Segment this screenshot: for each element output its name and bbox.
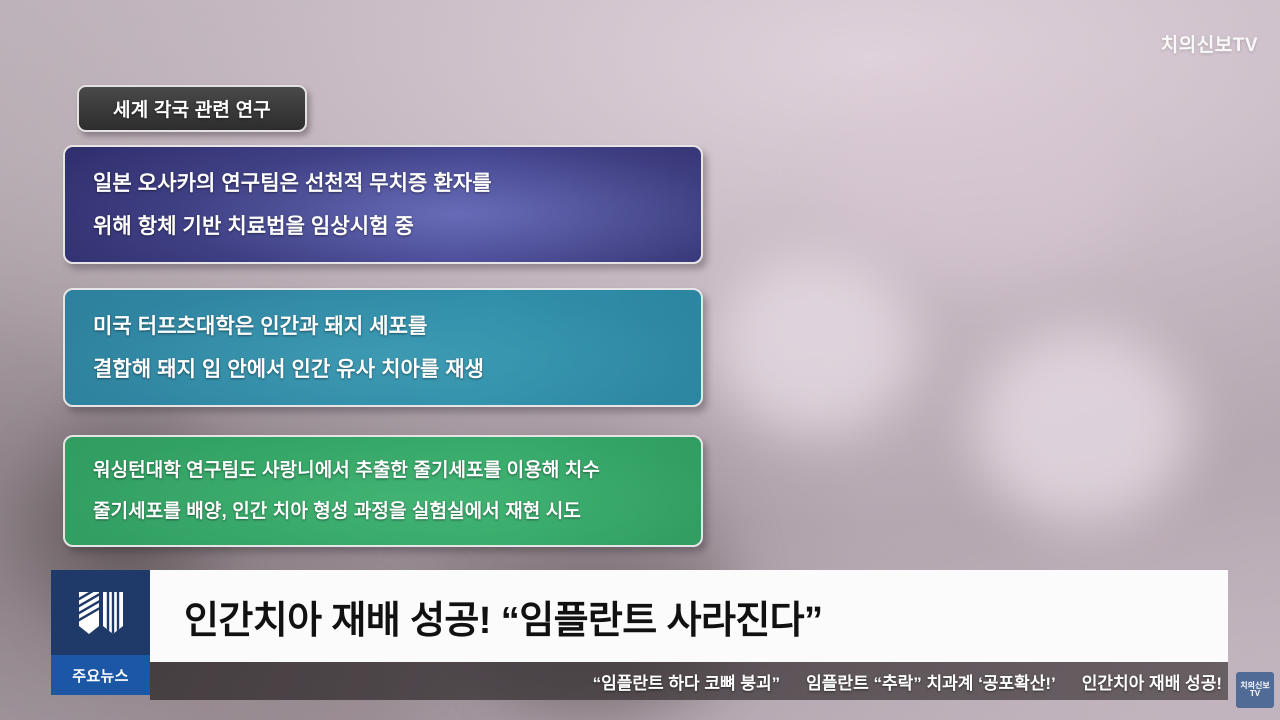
info-card-line-2: 결합해 돼지 입 안에서 인간 유사 치아를 재생 xyxy=(93,348,673,391)
info-card-line-1: 미국 터프츠대학은 인간과 돼지 세포를 xyxy=(93,305,673,348)
info-card-line-2: 위해 항체 기반 치료법을 임상시험 중 xyxy=(93,205,673,248)
info-card-line-2: 줄기세포를 배양, 인간 치아 형성 과정을 실험실에서 재현 시도 xyxy=(93,491,673,532)
ticker-item: 임플란트 “추락” 치과계 ‘공포확산!’ xyxy=(806,669,1056,694)
info-card-usa-tufts: 미국 터프츠대학은 인간과 돼지 세포를 결합해 돼지 입 안에서 인간 유사 … xyxy=(63,288,703,407)
channel-watermark: 치의신보TV xyxy=(1161,30,1258,57)
background-bokeh-a xyxy=(715,255,915,435)
info-card-japan-osaka: 일본 오사카의 연구팀은 선천적 무치증 환자를 위해 항체 기반 치료법을 임… xyxy=(63,145,703,264)
ticker-item: 인간치아 재배 성공! xyxy=(1082,669,1222,694)
headline-text: 인간치아 재배 성공! “임플란트 사라진다” xyxy=(184,589,822,644)
news-category-label: 주요뉴스 xyxy=(72,665,128,686)
news-category-badge: 주요뉴스 xyxy=(51,655,150,695)
broadcast-frame: 치의신보TV 세계 각국 관련 연구 일본 오사카의 연구팀은 선천적 무치증 … xyxy=(0,0,1280,720)
info-card-line-1: 워싱턴대학 연구팀도 사랑니에서 추출한 줄기세포를 이용해 치수 xyxy=(93,450,673,491)
news-ticker: “임플란트 하다 코뼈 붕괴” 임플란트 “추락” 치과계 ‘공포확산!’ 인간… xyxy=(150,662,1228,700)
newspaper-book-icon xyxy=(75,590,127,636)
background-bokeh-b xyxy=(975,330,1190,525)
headline-bar: 인간치아 재배 성공! “임플란트 사라진다” xyxy=(150,570,1228,662)
info-card-washington-univ: 워싱턴대학 연구팀도 사랑니에서 추출한 줄기세포를 이용해 치수 줄기세포를 … xyxy=(63,435,703,547)
section-tab-label: 세계 각국 관련 연구 xyxy=(113,95,271,122)
info-card-line-1: 일본 오사카의 연구팀은 선천적 무치증 환자를 xyxy=(93,162,673,205)
corner-logo-line-2: TV xyxy=(1250,690,1260,698)
background-bokeh-c xyxy=(830,100,1130,280)
news-logo-block xyxy=(51,570,150,655)
ticker-item: “임플란트 하다 코뼈 붕괴” xyxy=(593,669,781,694)
corner-channel-logo: 치의신보 TV xyxy=(1236,672,1274,708)
section-tab: 세계 각국 관련 연구 xyxy=(77,85,307,132)
